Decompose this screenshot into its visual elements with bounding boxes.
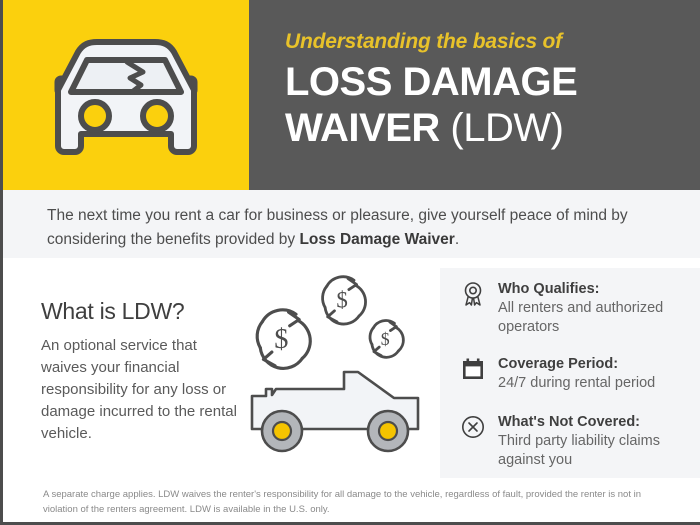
fact-title: What's Not Covered:	[498, 413, 692, 432]
title-line-2-light: (LDW)	[450, 106, 563, 150]
fact-title: Coverage Period:	[498, 355, 692, 374]
pickup-truck-side-icon	[252, 372, 418, 451]
benefits-panel: Who Qualifies: All renters and authorize…	[440, 268, 700, 478]
fact-description: All renters and authorized operators	[498, 299, 692, 337]
fact-description: 24/7 during rental period	[498, 374, 692, 393]
car-side-with-refund-dollars-illustration: $ $ $	[246, 274, 441, 464]
header-eyebrow: Understanding the basics of	[285, 30, 695, 53]
fact-who-qualifies: Who Qualifies: All renters and authorize…	[460, 280, 692, 337]
svg-text:$: $	[274, 324, 288, 355]
dollar-refund-cycle-icon: $	[370, 321, 403, 358]
title-line-1: LOSS DAMAGE	[285, 60, 577, 104]
section-body: An optional service that waives your fin…	[41, 335, 246, 445]
fact-text-group: Who Qualifies: All renters and authorize…	[498, 280, 692, 337]
fact-coverage-period: Coverage Period: 24/7 during rental peri…	[460, 355, 692, 393]
subtitle-emphasis: Loss Damage Waiver	[299, 231, 454, 248]
subtitle-band: The next time you rent a car for busines…	[3, 190, 700, 258]
fact-description: Third party liability claims against you	[498, 432, 692, 470]
x-circle-icon	[460, 414, 486, 440]
section-heading: What is LDW?	[41, 298, 246, 325]
disclaimer-text: A separate charge applies. LDW waives th…	[43, 487, 663, 517]
page-title: LOSS DAMAGE WAIVER (LDW)	[285, 59, 695, 151]
subtitle-text: The next time you rent a car for busines…	[47, 204, 667, 252]
calendar-icon	[460, 356, 486, 382]
header-text-group: Understanding the basics of LOSS DAMAGE …	[285, 30, 695, 151]
footer-disclaimer-area: A separate charge applies. LDW waives th…	[3, 482, 700, 522]
svg-text:$: $	[336, 287, 347, 312]
fact-text-group: What's Not Covered: Third party liabilit…	[498, 413, 692, 470]
dollar-refund-cycle-icon: $	[323, 277, 366, 324]
fact-text-group: Coverage Period: 24/7 during rental peri…	[498, 355, 692, 393]
infographic-page: Understanding the basics of LOSS DAMAGE …	[0, 0, 700, 525]
fact-title: Who Qualifies:	[498, 280, 692, 299]
header-banner: Understanding the basics of LOSS DAMAGE …	[3, 0, 700, 190]
damaged-car-front-icon	[31, 28, 221, 168]
fact-whats-not-covered: What's Not Covered: Third party liabilit…	[460, 413, 692, 470]
what-is-ldw-section: What is LDW? An optional service that wa…	[41, 298, 246, 445]
dollar-refund-cycle-icon: $	[257, 310, 310, 368]
award-ribbon-icon	[460, 281, 486, 307]
title-line-2-bold: WAIVER	[285, 106, 440, 150]
svg-text:$: $	[381, 329, 390, 349]
subtitle-text-after: .	[455, 231, 459, 248]
header-accent-block	[3, 0, 249, 190]
